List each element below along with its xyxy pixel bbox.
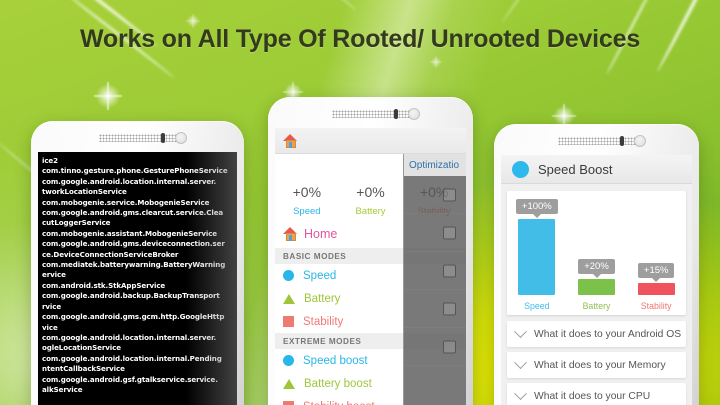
checkbox[interactable]	[443, 226, 456, 239]
phone-right-screen: Speed Boost +100%+20%+15% SpeedBatterySt…	[501, 155, 692, 405]
x-tick-label: Stability	[626, 301, 686, 311]
boost-bar-chart: +100%+20%+15% SpeedBatteryStability	[507, 191, 686, 315]
bar-battery	[578, 279, 615, 295]
stat-label: Battery	[339, 206, 403, 217]
chevron-down-icon	[514, 356, 527, 369]
home-icon[interactable]	[283, 134, 298, 148]
service-log-terminal: ice2com.tinno.gesture.phone.GesturePhone…	[38, 152, 237, 395]
chart-plot-area: +100%+20%+15%	[507, 199, 686, 295]
optimization-rows	[404, 176, 466, 366]
optimization-row[interactable]	[404, 176, 466, 214]
log-line: com.google.android.location.internal.ser…	[42, 333, 237, 343]
chevron-down-icon	[514, 325, 527, 338]
checkbox[interactable]	[443, 340, 456, 353]
accordion-label: What it does to your Android OS	[534, 329, 681, 340]
phone-mockup-left: ice2com.tinno.gesture.phone.GesturePhone…	[31, 121, 244, 405]
bar-data-label: +15%	[638, 263, 675, 278]
log-line: com.mobogenie.service.MobogenieService	[42, 198, 237, 208]
mode-item-label: Stability boost	[303, 401, 375, 405]
accordion-label: What it does to your CPU	[534, 391, 650, 402]
log-line: com.mobogenie.assistant.MobogenieService	[42, 229, 237, 239]
front-camera-icon	[175, 132, 187, 144]
accordion-list: What it does to your Android OSWhat it d…	[501, 321, 692, 405]
log-line: com.google.android.gms.gcm.http.GoogleHt…	[42, 312, 237, 322]
optimization-panel: Optimizatio	[403, 154, 466, 405]
sparkle-icon	[94, 82, 122, 110]
sparkle-icon	[430, 56, 442, 68]
checkbox[interactable]	[443, 264, 456, 277]
bar-speed	[518, 219, 555, 296]
mode-item-label: Battery boost	[304, 378, 372, 390]
log-line: com.tinno.gesture.phone.GesturePhoneServ…	[42, 166, 237, 176]
log-line: com.google.android.location.internal.Pen…	[42, 354, 237, 364]
log-line: com.google.android.backup.BackupTranspor…	[42, 291, 237, 301]
mode-item-label: Speed	[303, 270, 336, 282]
log-line: com.mediatek.batterywarning.BatteryWarni…	[42, 260, 237, 270]
stat-label: Speed	[275, 206, 339, 217]
page-title: Works on All Type Of Rooted/ Unrooted De…	[0, 25, 720, 54]
proximity-sensor-icon	[161, 133, 165, 143]
optimization-row[interactable]	[404, 252, 466, 290]
optimization-panel-title: Optimizatio	[404, 154, 466, 176]
phone-left-screen: ice2com.tinno.gesture.phone.GesturePhone…	[38, 152, 237, 405]
log-line: ntentCallbackService	[42, 364, 237, 374]
accordion-label: What it does to your Memory	[534, 360, 666, 371]
phone-bezel-top	[275, 97, 466, 128]
list-item-label: Home	[304, 227, 337, 241]
stat-value: +0%	[339, 184, 403, 200]
log-line: vice	[42, 323, 237, 333]
proximity-sensor-icon	[394, 109, 398, 119]
triangle-icon	[283, 294, 295, 304]
log-line: com.google.android.gms.clearcut.service.…	[42, 208, 237, 218]
checkbox[interactable]	[443, 302, 456, 315]
triangle-icon	[283, 379, 295, 389]
square-icon	[283, 401, 294, 405]
accordion-row[interactable]: What it does to your CPU	[507, 383, 686, 405]
proximity-sensor-icon	[620, 136, 624, 146]
home-icon	[283, 227, 298, 241]
bar-group-speed: +100%	[507, 199, 567, 295]
log-line: com.google.android.location.internal.ser…	[42, 177, 237, 187]
optimization-row[interactable]	[404, 328, 466, 366]
log-line: ervice	[42, 270, 237, 280]
mode-item-label: Stability	[303, 316, 343, 328]
blue-circle-icon	[512, 161, 529, 178]
log-line: rvice	[42, 302, 237, 312]
stat-speed: +0%Speed	[275, 184, 339, 217]
bar-data-label: +20%	[578, 259, 615, 274]
x-tick-label: Battery	[567, 301, 627, 311]
app-bar	[275, 128, 466, 154]
log-line: alkService	[42, 385, 237, 395]
log-line: ce.DeviceConnectionServiceBroker	[42, 250, 237, 260]
log-line: com.google.android.gsf.gtalkservice.serv…	[42, 375, 237, 385]
chart-x-axis-labels: SpeedBatteryStability	[507, 301, 686, 311]
x-tick-label: Speed	[507, 301, 567, 311]
log-line: com.android.stk.StkAppService	[42, 281, 237, 291]
app-bar: Speed Boost	[501, 155, 692, 184]
log-line: com.google.android.gms.deviceconnection.…	[42, 239, 237, 249]
stat-battery: +0%Battery	[339, 184, 403, 217]
phone-middle-screen: +0%Speed+0%Battery+0%Stability Home BASI…	[275, 128, 466, 405]
front-camera-icon	[408, 108, 420, 120]
phone-mockup-right: Speed Boost +100%+20%+15% SpeedBatterySt…	[494, 124, 699, 405]
checkbox[interactable]	[443, 188, 456, 201]
mode-item-label: Battery	[304, 293, 340, 305]
log-line: cutLoggerService	[42, 218, 237, 228]
bar-group-stability: +15%	[626, 199, 686, 295]
accordion-row[interactable]: What it does to your Memory	[507, 352, 686, 378]
phone-mockup-middle: +0%Speed+0%Battery+0%Stability Home BASI…	[268, 97, 473, 405]
stat-value: +0%	[275, 184, 339, 200]
page-title: Speed Boost	[538, 162, 612, 177]
bar-stability	[638, 283, 675, 295]
optimization-row[interactable]	[404, 214, 466, 252]
mode-item-label: Speed boost	[303, 355, 368, 367]
log-line: tworkLocationService	[42, 187, 237, 197]
circle-icon	[283, 270, 294, 281]
square-icon	[283, 316, 294, 327]
log-line: ice2	[42, 156, 237, 166]
phone-bezel-top	[501, 124, 692, 155]
log-line: ogleLocationService	[42, 343, 237, 353]
bar-group-battery: +20%	[567, 199, 627, 295]
front-camera-icon	[634, 135, 646, 147]
bar-data-label: +100%	[516, 199, 558, 214]
circle-icon	[283, 355, 294, 366]
chevron-down-icon	[514, 387, 527, 400]
phone-bezel-top	[38, 121, 237, 152]
accordion-row[interactable]: What it does to your Android OS	[507, 321, 686, 347]
optimization-row[interactable]	[404, 290, 466, 328]
